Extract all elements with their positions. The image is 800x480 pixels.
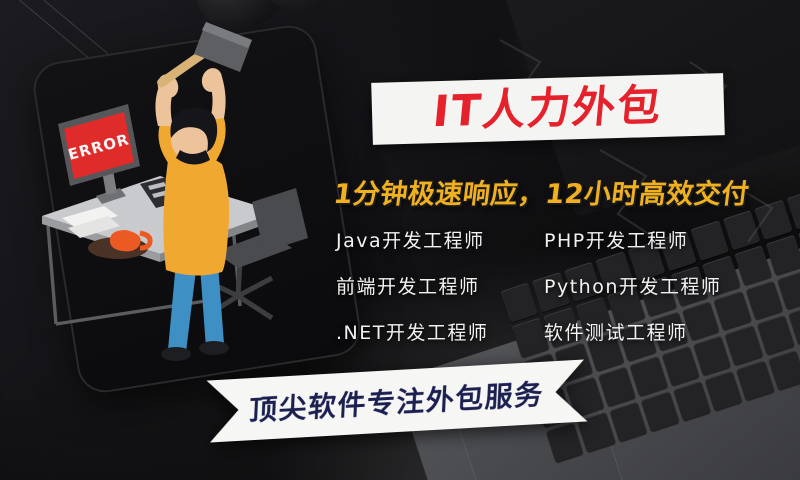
- service-item: .NET开发工程师: [336, 318, 536, 345]
- title-banner: IT人力外包: [371, 73, 725, 145]
- service-item: PHP开发工程师: [544, 226, 792, 253]
- services-grid: Java开发工程师 PHP开发工程师 前端开发工程师 Python开发工程师 .…: [336, 226, 792, 345]
- service-item: 前端开发工程师: [336, 272, 536, 299]
- subtitle-tagline: 1分钟极速响应，12小时高效交付: [332, 172, 797, 211]
- page-title: IT人力外包: [431, 84, 664, 134]
- service-item: 软件测试工程师: [544, 318, 792, 345]
- service-item: Java开发工程师: [336, 226, 536, 253]
- service-item: Python开发工程师: [544, 272, 792, 299]
- ribbon-slogan: 顶尖软件专注外包服务: [249, 373, 546, 430]
- illustration-developer-smashing-pc: ERROR: [0, 0, 360, 400]
- poster-canvas: ERROR: [0, 0, 800, 480]
